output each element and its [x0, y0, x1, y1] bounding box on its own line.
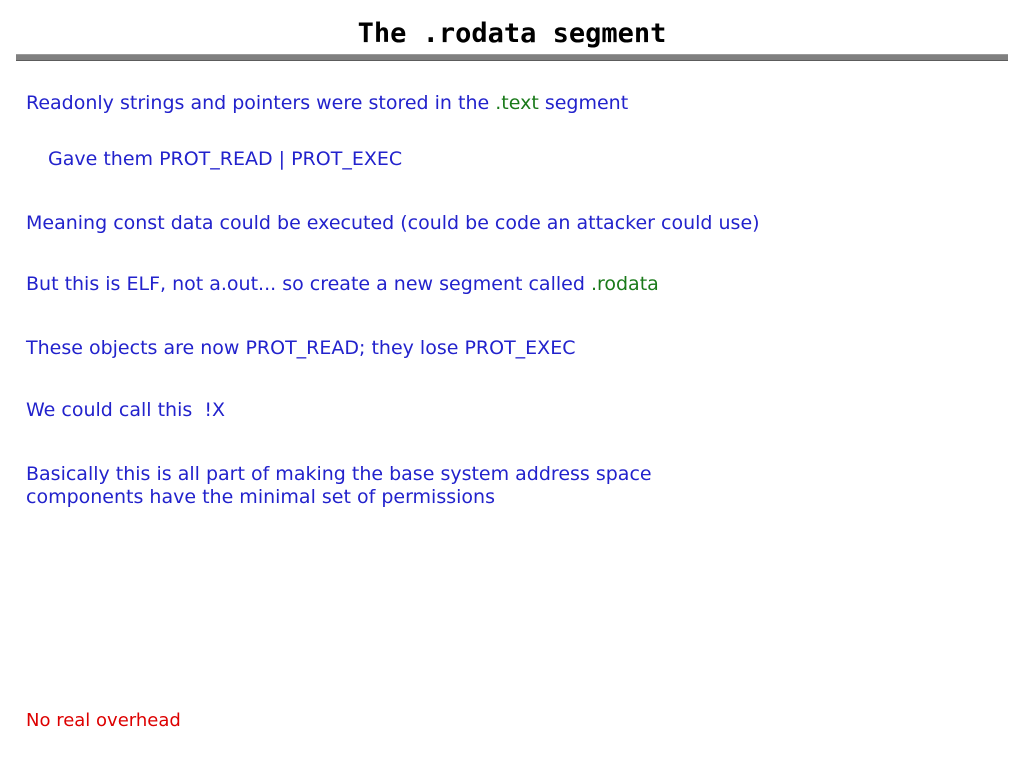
body-text: These objects are now PROT_READ; they lo…	[26, 337, 575, 359]
body-text: But this is ELF, not a.out... so create …	[26, 273, 591, 295]
body-line: But this is ELF, not a.out... so create …	[26, 273, 996, 297]
segment-name-highlight: .text	[495, 92, 539, 114]
footnote-text: No real overhead	[26, 710, 181, 731]
body-line: These objects are now PROT_READ; they lo…	[26, 337, 996, 361]
body-line: We could call this !X	[26, 399, 996, 423]
body-line: components have the minimal set of permi…	[26, 486, 996, 510]
slide-body: Readonly strings and pointers were store…	[26, 92, 996, 510]
body-text: Basically this is all part of making the…	[26, 463, 652, 485]
body-text: segment	[539, 92, 628, 114]
body-text: components have the minimal set of permi…	[26, 486, 495, 508]
body-line: Meaning const data could be executed (co…	[26, 212, 996, 236]
body-text: Readonly strings and pointers were store…	[26, 92, 495, 114]
body-text: Gave them PROT_READ | PROT_EXEC	[48, 148, 402, 170]
title-divider	[16, 54, 1008, 61]
body-line: Readonly strings and pointers were store…	[26, 92, 996, 116]
body-line: Basically this is all part of making the…	[26, 463, 996, 487]
slide: The .rodata segment Readonly strings and…	[0, 0, 1024, 768]
body-text: We could call this !X	[26, 399, 225, 421]
segment-name-highlight: .rodata	[591, 273, 659, 295]
body-text: Meaning const data could be executed (co…	[26, 212, 760, 234]
body-line: Gave them PROT_READ | PROT_EXEC	[48, 148, 996, 172]
page-title: The .rodata segment	[0, 18, 1024, 49]
